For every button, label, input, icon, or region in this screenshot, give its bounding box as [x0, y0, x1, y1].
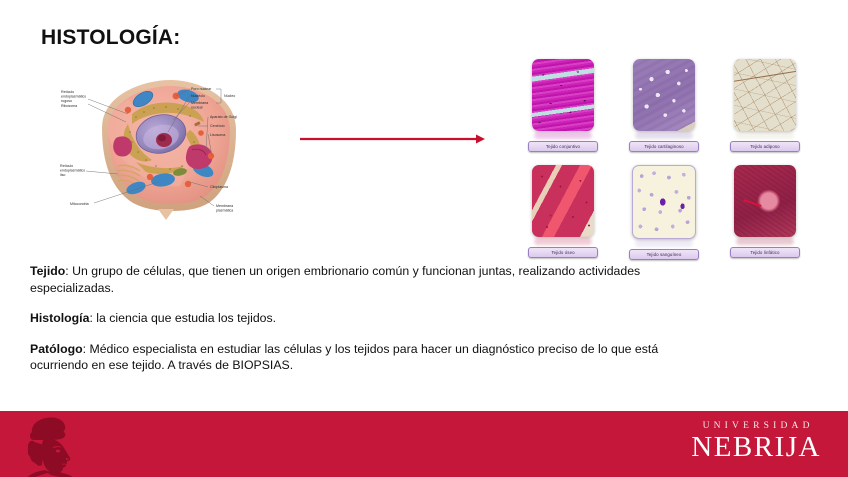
label-reticulo-rugoso-line1: Retículo	[61, 90, 74, 94]
tissue-image-adiposo[interactable]	[734, 59, 796, 131]
definitions-block: Tejido: Un grupo de células, que tienen …	[30, 263, 670, 374]
label-reticulo-liso-line3: liso	[60, 173, 65, 177]
tissue-image-linfatico[interactable]	[734, 165, 796, 237]
footer-banner: UNIVERSIDAD NEBRIJA	[0, 411, 848, 477]
red-right-arrow	[300, 132, 485, 146]
slide-canvas: HISTOLOGÍA:	[0, 0, 848, 477]
tissue-caption-adiposo: Tejido adiposo	[730, 141, 800, 152]
arrow-svg	[300, 132, 485, 146]
label-membrana-nuclear-line1: Membrana	[191, 101, 208, 105]
tissue-reflection	[736, 238, 794, 245]
label-membrana-plasmatica-line1: Membrana	[216, 204, 233, 208]
label-reticulo-rugoso-line3: rugoso	[61, 99, 72, 103]
tissue-reflection	[534, 132, 592, 139]
tissue-image-oseo[interactable]	[532, 165, 594, 237]
label-membrana-nuclear-line2: nuclear	[191, 106, 204, 110]
tissue-item[interactable]: Tejido linfático	[731, 165, 799, 260]
tissue-reflection	[635, 240, 693, 247]
label-aparato-golgi: Aparato de Golgi	[210, 115, 237, 119]
tissue-caption-cartilaginoso: Tejido cartilaginoso	[629, 141, 699, 152]
logo-nebrija-text: NEBRIJA	[691, 432, 821, 462]
tissue-caption-sanguineo: Tejido sanguíneo	[629, 249, 699, 260]
golgi-left	[113, 136, 132, 156]
tissue-item[interactable]: Tejido sanguíneo	[630, 165, 698, 260]
logo-universidad-text: UNIVERSIDAD	[691, 421, 821, 431]
label-reticulo-liso-line2: endoplasmático	[60, 169, 85, 173]
label-citoplasma: Citoplasma	[210, 185, 228, 189]
label-nucleo: Núcleo	[224, 94, 235, 98]
tissue-image-grid: Tejido conjuntivo Tejido cartilaginoso T…	[529, 59, 799, 260]
tissue-item[interactable]: Tejido conjuntivo	[529, 59, 597, 152]
tissue-image-conjuntivo[interactable]	[532, 59, 594, 131]
definition-term-tejido: Tejido	[30, 264, 65, 278]
definition-text-tejido: Un grupo de células, que tienen un orige…	[30, 264, 640, 295]
label-membrana-plasmatica-line2: plasmática	[216, 209, 233, 213]
definition-term-patologo: Patólogo	[30, 342, 83, 356]
page-title: HISTOLOGÍA:	[41, 26, 180, 50]
tissue-caption-linfatico: Tejido linfático	[730, 247, 800, 258]
label-poro-nuclear: Poro nuclear	[191, 87, 212, 91]
label-centriolo: Centríolo	[210, 124, 225, 128]
tissue-item[interactable]: Tejido cartilaginoso	[630, 59, 698, 152]
definition-text-patologo: Médico especialista en estudiar las célu…	[30, 342, 658, 373]
label-nucleolo: Nucléolo	[191, 94, 205, 98]
tissue-image-sanguineo[interactable]	[632, 165, 696, 239]
nebrija-portrait-icon	[22, 415, 84, 477]
tissue-caption-oseo: Tejido óseo	[528, 247, 598, 258]
tissue-image-cartilaginoso[interactable]	[633, 59, 695, 131]
label-ribosoma: Ribosoma	[61, 104, 77, 108]
definition-tejido: Tejido: Un grupo de células, que tienen …	[30, 263, 670, 296]
definition-term-histologia: Histología	[30, 311, 89, 325]
tissue-item[interactable]: Tejido óseo	[529, 165, 597, 260]
label-mitocondria: Mitocondria	[70, 202, 89, 206]
cell-illustration: Retículo endoplasmático rugoso Ribosoma …	[40, 70, 290, 235]
label-lisosoma: Lisosoma	[210, 133, 225, 137]
definition-histologia: Histología: la ciencia que estudia los t…	[30, 310, 670, 327]
tissue-reflection	[534, 238, 592, 245]
tissue-reflection	[635, 132, 693, 139]
tissue-caption-conjuntivo: Tejido conjuntivo	[528, 141, 598, 152]
label-reticulo-rugoso-line2: endoplasmático	[61, 95, 86, 99]
animal-cell-diagram: Retículo endoplasmático rugoso Ribosoma …	[40, 70, 290, 235]
nebrija-logo: UNIVERSIDAD NEBRIJA	[691, 421, 821, 462]
tissue-item[interactable]: Tejido adiposo	[731, 59, 799, 152]
label-reticulo-liso-line1: Retículo	[60, 164, 73, 168]
definition-patologo: Patólogo: Médico especialista en estudia…	[30, 341, 670, 374]
tissue-reflection	[736, 132, 794, 139]
definition-text-histologia: la ciencia que estudia los tejidos.	[96, 311, 276, 325]
